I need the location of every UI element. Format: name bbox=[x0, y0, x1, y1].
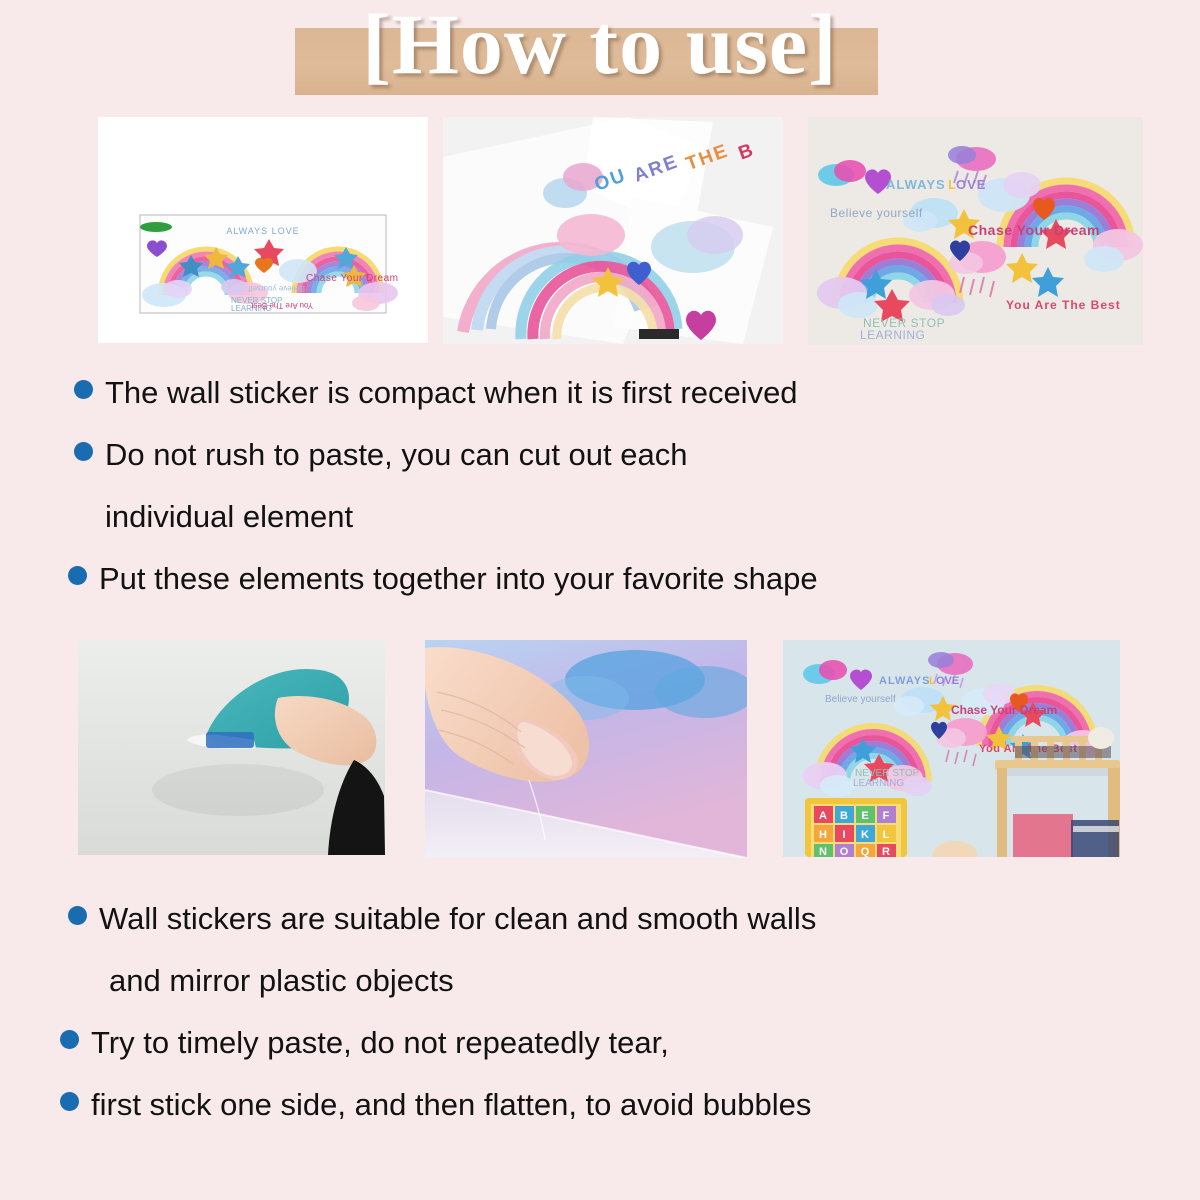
svg-text:Q: Q bbox=[861, 846, 870, 857]
svg-text:Believe yourself: Believe yourself bbox=[825, 694, 896, 705]
svg-text:ALWAYS: ALWAYS bbox=[886, 177, 946, 192]
svg-text:Believe yourself: Believe yourself bbox=[830, 206, 923, 220]
list-item-label: and mirror plastic objects bbox=[109, 950, 454, 1012]
list-item-label: Do not rush to paste, you can cut out ea… bbox=[105, 424, 687, 486]
photo-row-bottom: ALWAYS L OVE Believe yourself Chase Your… bbox=[0, 640, 1200, 858]
svg-text:Believe yourself: Believe yourself bbox=[248, 284, 305, 293]
list-item-label: Try to timely paste, do not repeatedly t… bbox=[91, 1012, 669, 1074]
wall-art-illustration: ALWAYS L OVE Believe yourself Chase Your… bbox=[808, 117, 1143, 345]
list-item: Put these elements together into your fa… bbox=[0, 548, 1200, 610]
svg-text:Chase Your Dream: Chase Your Dream bbox=[951, 703, 1057, 717]
instructions-bottom: Wall stickers are suitable for clean and… bbox=[0, 888, 1200, 1136]
room-illustration: ALWAYS L OVE Believe yourself Chase Your… bbox=[783, 640, 1120, 857]
svg-text:H: H bbox=[819, 829, 827, 841]
svg-text:L: L bbox=[883, 829, 890, 841]
flat-pack-illustration: ALWAYS LOVE Chase Your Dream Believe you… bbox=[98, 117, 428, 343]
svg-text:LEARNING: LEARNING bbox=[853, 778, 904, 789]
svg-text:K: K bbox=[861, 829, 869, 841]
wipe-wall-illustration bbox=[78, 640, 385, 855]
bullet-dot-icon bbox=[74, 442, 93, 461]
list-item: Try to timely paste, do not repeatedly t… bbox=[0, 1012, 1200, 1074]
list-item-continuation: individual element bbox=[0, 486, 1200, 548]
svg-text:F: F bbox=[883, 810, 890, 822]
bullet-dot-icon bbox=[74, 380, 93, 399]
svg-text:I: I bbox=[842, 829, 845, 841]
svg-text:You Are The Best: You Are The Best bbox=[1006, 298, 1121, 312]
bullet-dot-icon bbox=[68, 906, 87, 925]
page-title: [How to use] bbox=[0, 0, 1200, 92]
list-item-label: Put these elements together into your fa… bbox=[99, 548, 818, 610]
svg-text:OVE: OVE bbox=[956, 177, 986, 192]
list-item-label: Wall stickers are suitable for clean and… bbox=[99, 888, 816, 950]
list-item-label: The wall sticker is compact when it is f… bbox=[105, 362, 798, 424]
svg-text:A: A bbox=[819, 810, 827, 822]
svg-text:O: O bbox=[840, 846, 849, 857]
bullet-dot-icon bbox=[68, 566, 87, 585]
peel-backing-illustration bbox=[425, 640, 747, 858]
photo-flat-packed-sticker-sheet[interactable]: ALWAYS LOVE Chase Your Dream Believe you… bbox=[98, 117, 428, 343]
svg-text:You Are The Best: You Are The Best bbox=[250, 301, 313, 310]
bullet-dot-icon bbox=[60, 1030, 79, 1049]
photo-wipe-wall-with-towel[interactable] bbox=[78, 640, 385, 855]
svg-text:LEARNING: LEARNING bbox=[860, 328, 925, 342]
page-header: [How to use] bbox=[0, 0, 1200, 110]
photo-row-top: ALWAYS LOVE Chase Your Dream Believe you… bbox=[0, 117, 1200, 345]
svg-text:ALWAYS: ALWAYS bbox=[879, 675, 930, 687]
photo-applied-in-childrens-room[interactable]: ALWAYS L OVE Believe yourself Chase Your… bbox=[783, 640, 1120, 857]
list-item-label: first stick one side, and then flatten, … bbox=[91, 1074, 811, 1136]
svg-text:N: N bbox=[819, 846, 827, 857]
svg-text:R: R bbox=[882, 846, 890, 857]
photo-peel-backing-paper[interactable] bbox=[425, 640, 747, 858]
svg-text:ALWAYS LOVE: ALWAYS LOVE bbox=[226, 226, 299, 236]
svg-text:L: L bbox=[929, 675, 936, 687]
list-item-label: individual element bbox=[105, 486, 353, 548]
list-item: The wall sticker is compact when it is f… bbox=[0, 362, 1200, 424]
instructions-top: The wall sticker is compact when it is f… bbox=[0, 362, 1200, 610]
list-item: first stick one side, and then flatten, … bbox=[0, 1074, 1200, 1136]
cut-outs-illustration: OU ARE THE B bbox=[443, 117, 783, 344]
svg-text:Chase Your Dream: Chase Your Dream bbox=[306, 273, 399, 284]
photo-cut-out-elements[interactable]: OU ARE THE B bbox=[443, 117, 783, 344]
photo-arranged-wall-art[interactable]: ALWAYS L OVE Believe yourself Chase Your… bbox=[808, 117, 1143, 345]
list-item-continuation: and mirror plastic objects bbox=[0, 950, 1200, 1012]
list-item: Do not rush to paste, you can cut out ea… bbox=[0, 424, 1200, 486]
bullet-dot-icon bbox=[60, 1092, 79, 1111]
list-item: Wall stickers are suitable for clean and… bbox=[0, 888, 1200, 950]
svg-text:B: B bbox=[840, 810, 848, 822]
svg-text:E: E bbox=[861, 810, 868, 822]
svg-text:OVE: OVE bbox=[936, 675, 959, 687]
svg-text:Chase Your Dream: Chase Your Dream bbox=[968, 222, 1100, 238]
